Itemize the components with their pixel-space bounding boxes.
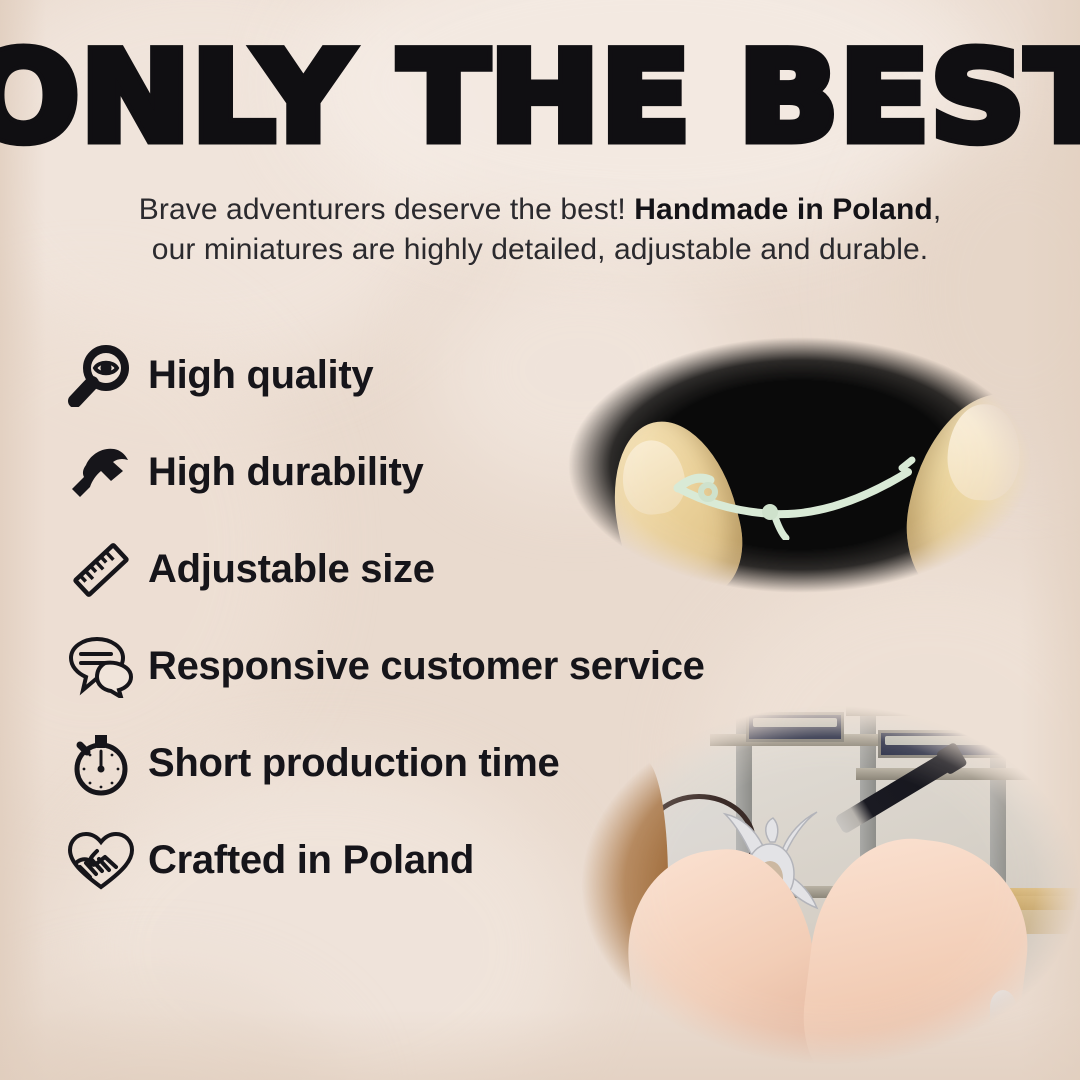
- stopwatch-icon: [62, 727, 140, 801]
- list-item-label: Crafted in Poland: [148, 838, 474, 883]
- list-item-label: High durability: [148, 450, 424, 495]
- subtitle-text-line2: our miniatures are highly detailed, adju…: [152, 233, 928, 266]
- list-item: High durability: [62, 424, 822, 521]
- handshake-heart-icon: [62, 824, 140, 898]
- feature-list: High quality High durability Adjustable …: [62, 327, 822, 909]
- hammer-icon: [62, 436, 140, 510]
- subtitle-comma: ,: [933, 193, 941, 226]
- list-item-label: Responsive customer service: [148, 644, 705, 689]
- list-item-label: Adjustable size: [148, 547, 435, 592]
- page-title: ONLY THE BEST: [0, 36, 1080, 160]
- list-item: Short production time: [62, 715, 822, 812]
- list-item: Crafted in Poland: [62, 812, 822, 909]
- promo-poster: ONLY THE BEST Brave adventurers deserve …: [0, 0, 1080, 1080]
- list-item: Adjustable size: [62, 521, 822, 618]
- magnifier-eye-icon: [62, 339, 140, 413]
- ruler-icon: [62, 533, 140, 607]
- list-item-label: Short production time: [148, 741, 559, 786]
- speech-bubbles-icon: [62, 630, 140, 704]
- subtitle: Brave adventurers deserve the best! Hand…: [60, 190, 1020, 270]
- subtitle-text-lead: Brave adventurers deserve the best!: [139, 193, 635, 226]
- list-item: Responsive customer service: [62, 618, 822, 715]
- list-item: High quality: [62, 327, 822, 424]
- list-item-label: High quality: [148, 353, 373, 398]
- subtitle-highlight: Handmade in Poland: [634, 193, 933, 226]
